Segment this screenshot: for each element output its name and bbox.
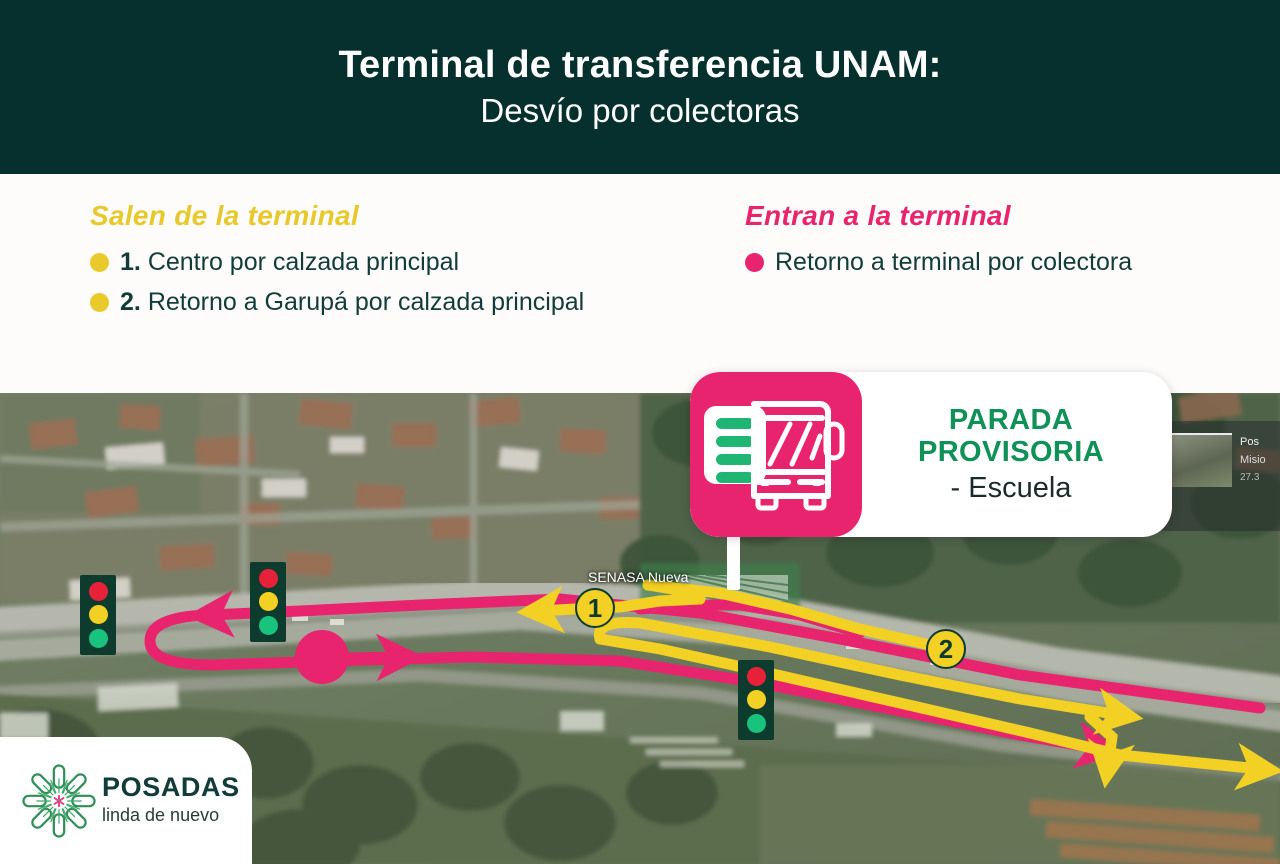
- legend-column-enter: Entran a la terminal Retorno a terminal …: [745, 200, 1132, 288]
- logo-wordmark: POSADAS linda de nuevo: [102, 774, 240, 827]
- geo-line-3: 27.3: [1240, 469, 1266, 487]
- legend-item-text: Retorno a Garupá por calzada principal: [148, 288, 584, 316]
- posadas-logo-card: POSADAS linda de nuevo: [0, 737, 252, 864]
- traffic-light-red-icon: [747, 667, 766, 686]
- legend-heading-enter: Entran a la terminal: [745, 200, 1132, 232]
- parada-text-block: PARADA PROVISORIA - Escuela: [862, 404, 1172, 506]
- parada-line-3: - Escuela: [876, 471, 1146, 506]
- bullet-dot-icon: [90, 293, 109, 312]
- traffic-light-center: [250, 562, 286, 642]
- page-subtitle: Desvío por colectoras: [480, 94, 799, 129]
- senasa-label: SENASA Nueva: [588, 569, 688, 585]
- geo-line-2: Misio: [1240, 451, 1266, 469]
- traffic-light-green-icon: [259, 616, 278, 635]
- legend-column-exit: Salen de la terminal 1. Centro por calza…: [90, 200, 584, 328]
- traffic-light-yellow-icon: [89, 605, 108, 624]
- header-banner: Terminal de transferencia UNAM: Desvío p…: [0, 0, 1280, 174]
- route-badge-1: 1: [575, 588, 615, 628]
- bus-stop-icon: [690, 372, 862, 537]
- route-badge-label: 1: [588, 595, 602, 621]
- parada-line-1: PARADA: [876, 404, 1146, 436]
- traffic-light-red-icon: [89, 582, 108, 601]
- legend-item-label: 2. Retorno a Garupá por calzada principa…: [120, 288, 584, 317]
- route-badge-label: 2: [939, 636, 953, 662]
- infographic-poster: Terminal de transferencia UNAM: Desvío p…: [0, 0, 1280, 864]
- geo-thumbnail: [1170, 433, 1232, 487]
- traffic-light-east: [738, 660, 774, 740]
- legend-item-number: 1.: [120, 248, 141, 276]
- traffic-light-yellow-icon: [747, 690, 766, 709]
- geo-info-lines: Pos Misio 27.3: [1240, 433, 1266, 487]
- legend-heading-exit: Salen de la terminal: [90, 200, 584, 232]
- bullet-dot-icon: [745, 253, 764, 272]
- traffic-light-yellow-icon: [259, 592, 278, 611]
- traffic-light-red-icon: [259, 569, 278, 588]
- traffic-light-green-icon: [747, 714, 766, 733]
- legend-item-text: Retorno a terminal por colectora: [775, 248, 1132, 277]
- legend-item-exit-1: 1. Centro por calzada principal: [90, 248, 584, 277]
- route-badge-2: 2: [926, 629, 966, 669]
- legend-item-exit-2: 2. Retorno a Garupá por calzada principa…: [90, 288, 584, 317]
- geo-line-1: Pos: [1240, 433, 1266, 451]
- parada-provisoria-card[interactable]: PARADA PROVISORIA - Escuela: [690, 372, 1172, 537]
- geo-info-card: Pos Misio 27.3: [1162, 421, 1280, 531]
- legend-item-number: 2.: [120, 288, 141, 316]
- legend-item-text: Centro por calzada principal: [148, 248, 459, 276]
- posadas-flower-logo-icon: [22, 764, 96, 838]
- bullet-dot-icon: [90, 253, 109, 272]
- page-title: Terminal de transferencia UNAM:: [338, 46, 941, 86]
- traffic-light-west: [80, 575, 116, 655]
- parada-line-2: PROVISORIA: [876, 436, 1146, 468]
- logo-name: POSADAS: [102, 774, 240, 801]
- legend-item-label: 1. Centro por calzada principal: [120, 248, 459, 277]
- logo-tagline: linda de nuevo: [102, 804, 240, 827]
- legend-item-enter-1: Retorno a terminal por colectora: [745, 248, 1132, 277]
- traffic-light-green-icon: [89, 629, 108, 648]
- legend-section: Salen de la terminal 1. Centro por calza…: [0, 174, 1280, 393]
